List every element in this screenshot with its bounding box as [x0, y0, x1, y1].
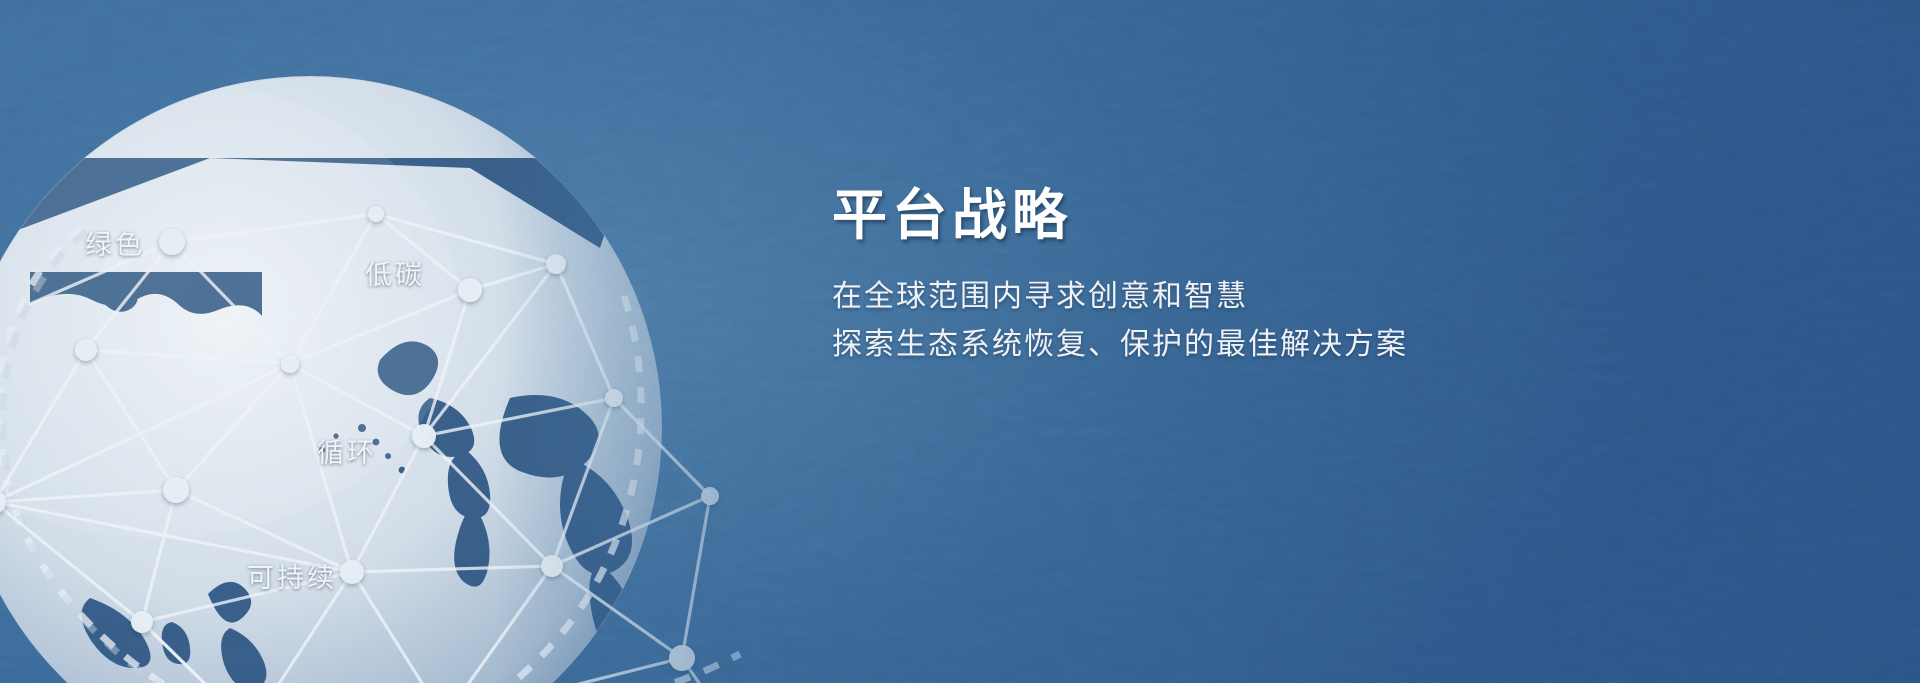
- hero-subline-2: 探索生态系统恢复、保护的最佳解决方案: [832, 321, 1632, 370]
- hero-subline-1: 在全球范围内寻求创意和智慧: [832, 273, 1632, 322]
- globe-label-low-carbon: 低碳: [365, 253, 425, 292]
- hero-banner: 绿色 低碳 循环 可持续 平台战略 在全球范围内寻求创意和智慧 探索生态系统恢复…: [0, 0, 1920, 683]
- globe-label-green: 绿色: [85, 223, 145, 262]
- globe-network-graphic: 绿色 低碳 循环 可持续: [0, 98, 830, 683]
- globe-label-sustainable: 可持续: [247, 556, 337, 595]
- hero-headline: 平台战略: [832, 185, 1632, 247]
- globe-label-circular: 循环: [317, 431, 377, 470]
- hero-copy-block: 平台战略 在全球范围内寻求创意和智慧 探索生态系统恢复、保护的最佳解决方案: [832, 185, 1632, 370]
